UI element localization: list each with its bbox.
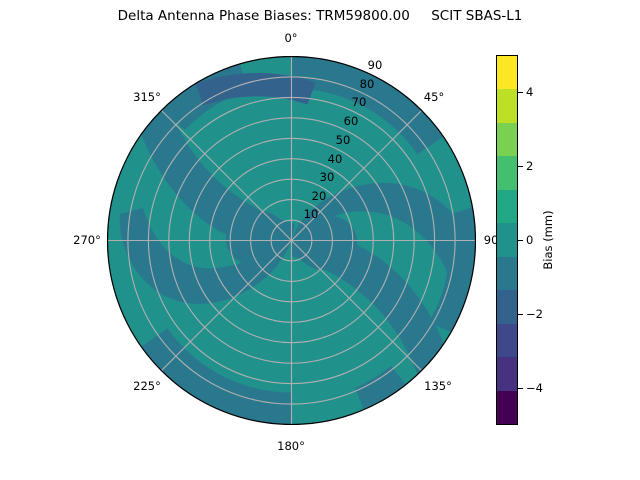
theta-tick-0: 0° [284,31,297,45]
colorbar[interactable] [496,55,518,425]
colorbar-ticklabel-2: 2 [526,159,533,173]
colorbar-ticklabel-neg2: −2 [526,307,543,321]
colorbar-band-3 [497,156,517,189]
colorbar-band-10 [497,391,517,424]
colorbar-ticklabel-0: 0 [526,233,533,247]
colorbar-band-4 [497,190,517,223]
r-tick-30: 30 [320,170,335,184]
r-tick-70: 70 [352,95,367,109]
colorbar-tickmark-0 [518,240,523,241]
colorbar-band-5 [497,223,517,256]
colorbar-ticklabel-4: 4 [526,85,533,99]
colorbar-band-2 [497,123,517,156]
colorbar-tickmark-neg2 [518,314,523,315]
theta-tick-135: 135° [424,379,452,393]
colorbar-band-6 [497,257,517,290]
theta-tick-315: 315° [133,90,161,104]
colorbar-band-8 [497,324,517,357]
colorbar-band-9 [497,357,517,390]
theta-tick-225: 225° [133,379,161,393]
polar-grid [108,57,476,425]
r-tick-20: 20 [312,189,327,203]
colorbar-tickmark-4 [518,92,523,93]
figure-title: Delta Antenna Phase Biases: TRM59800.00 … [0,8,640,24]
colorbar-ticklabel-neg4: −4 [526,381,543,395]
r-tick-40: 40 [328,152,343,166]
theta-tick-270: 270° [73,233,101,247]
colorbar-axis-label: Bias (mm) [541,210,555,269]
colorbar-tickmark-2 [518,166,523,167]
colorbar-band-1 [497,89,517,122]
r-tick-10: 10 [304,207,319,221]
theta-tick-45: 45° [424,90,444,104]
polar-contour-plot [107,56,476,425]
r-tick-90: 90 [368,58,383,72]
colorbar-tickmark-neg4 [518,388,523,389]
polar-axes[interactable] [107,56,476,425]
r-tick-80: 80 [360,77,375,91]
r-tick-50: 50 [336,133,351,147]
r-tick-60: 60 [344,114,359,128]
theta-tick-180: 180° [277,439,305,453]
figure-canvas: Delta Antenna Phase Biases: TRM59800.00 … [0,0,640,480]
colorbar-band-7 [497,290,517,323]
colorbar-band-0 [497,56,517,89]
